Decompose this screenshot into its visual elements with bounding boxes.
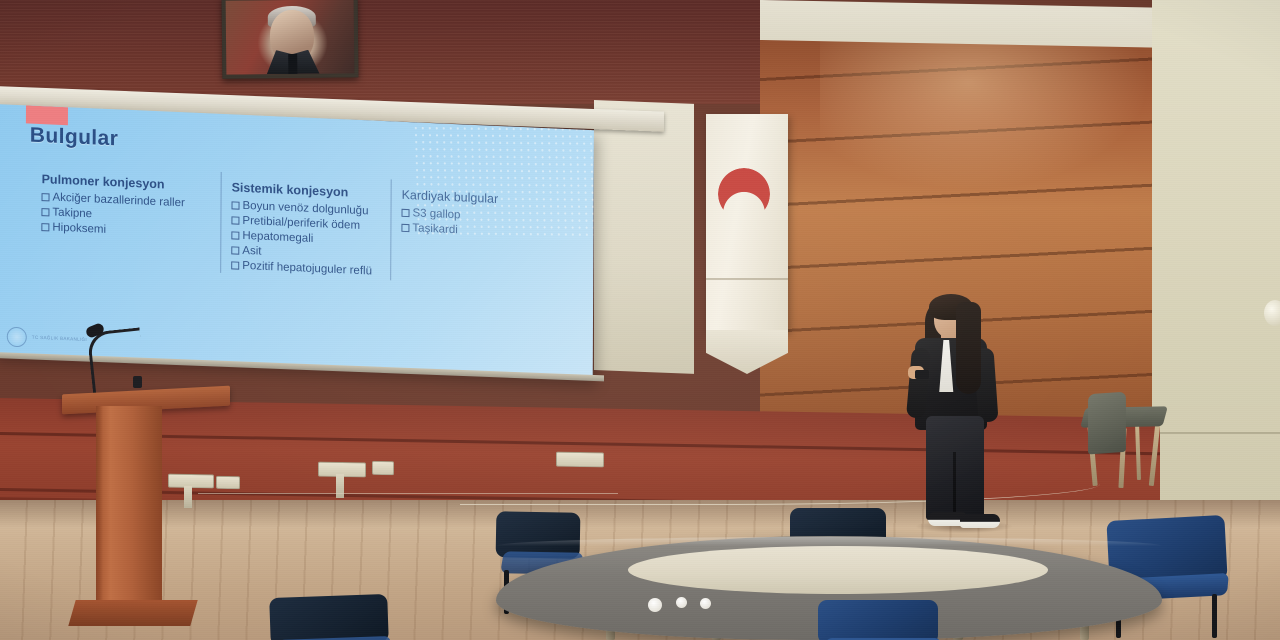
presentation-clicker [915,370,929,379]
podium-body [96,406,162,624]
ataturk-portrait-frame [222,0,359,79]
column-list: S3 gallop Taşikardi [401,206,531,241]
slide-column-cardiac: Kardiyak bulgular S3 gallop Taşikardi [391,179,542,287]
upper-wall-grain [0,0,790,104]
slide-column-systemic: Sistemik konjesyon Boyun venöz dolgunluğ… [221,172,392,280]
chair-under-table-back [818,600,938,640]
chair-right-frame-right [1212,594,1217,638]
conference-table-inlay [628,546,1048,594]
table-light-reflection [676,597,687,608]
slide-column-pulmonary: Pulmoner konjesyon Akciğer bazallerinde … [31,164,222,273]
presenter-leg-separation [953,452,956,520]
microphone-mount [133,376,142,388]
column-list: Boyun venöz dolgunluğu Pretibial/perifer… [231,198,380,279]
slide-accent-tab [26,105,68,125]
table-light-reflection [700,598,711,609]
presenter-shoe-right [960,514,1000,528]
slide-institution-logo: TC SAĞLIK BAKANLIĞI [7,327,87,350]
right-wall-seam [1160,432,1280,434]
red-crescent-banner [706,114,788,332]
institution-seal-icon [7,327,27,348]
column-heading: Kardiyak bulgular [402,188,532,208]
banner-tail-left [706,330,747,374]
portrait-tie [288,54,297,74]
projection-screen: Bulgular Pulmoner konjesyon Akciğer baza… [0,104,594,380]
podium-edge-shadow [96,406,103,624]
presentation-slide: Bulgular Pulmoner konjesyon Akciğer baza… [0,104,594,380]
screen-side-wall [594,100,694,374]
wall-outlet [372,461,394,475]
wall-outlet [556,452,604,468]
institution-logo-text: TC SAĞLIK BAKANLIĞI [32,335,87,344]
wall-fixture-icon [1264,300,1280,326]
background-chair-back [1088,392,1126,455]
chair-left-front-back [269,594,389,640]
table-light-reflection [648,598,662,612]
conference-room-photo: Bulgular Pulmoner konjesyon Akciğer baza… [0,0,1280,640]
podium-base [68,600,197,626]
right-cream-wall [1152,0,1280,520]
banner-seam [706,278,788,280]
column-heading: Sistemik konjesyon [232,180,381,201]
wall-outlet-post [184,486,192,508]
column-list: Akciğer bazallerinde raller Takipne Hipo… [41,190,210,241]
presenter-hair-side [956,302,981,394]
red-crescent-icon [718,168,770,220]
power-cable-secondary [198,485,618,494]
slide-title: Bulgular [30,124,118,152]
